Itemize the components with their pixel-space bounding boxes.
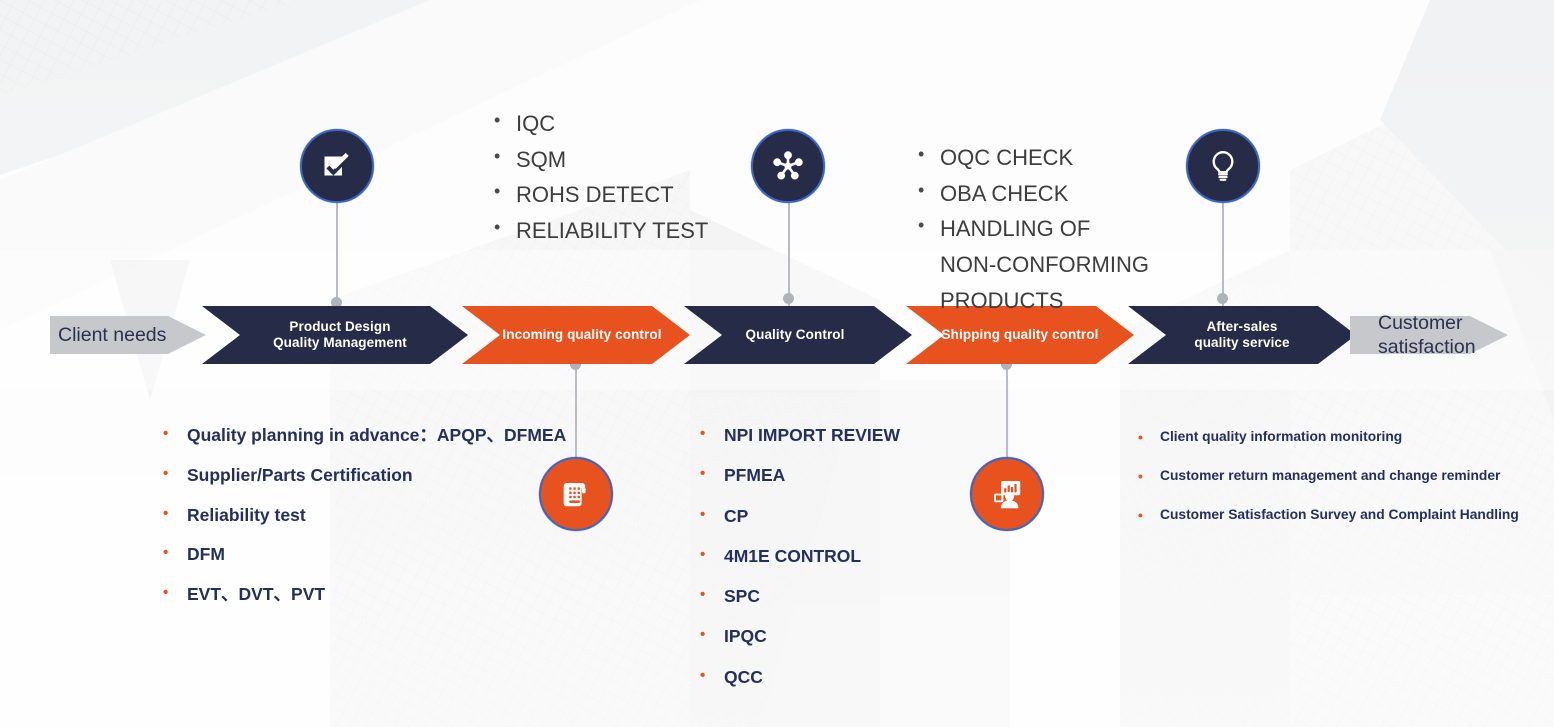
list-shipping-quality-control: • OQC CHECK • OBA CHECK • HANDLING OF NO… (918, 140, 1188, 318)
list-item-label: DFM (187, 543, 593, 566)
bullet-glyph: • (163, 424, 187, 444)
bullet-glyph: • (163, 504, 187, 524)
list-incoming-quality-control: • IQC • SQM • ROHS DETECT • RELIABILITY … (494, 106, 744, 249)
node-product-design[interactable] (300, 129, 374, 203)
connector-stem-quality-control (788, 200, 790, 308)
list-item-label: Quality planning in advance：APQP、DFMEA (187, 424, 593, 447)
list-item: • NPI IMPORT REVIEW (700, 424, 930, 447)
bullet-glyph: • (1138, 467, 1160, 485)
list-item: • OQC CHECK (918, 140, 1188, 176)
list-item-label: EVT、DVT、PVT (187, 583, 593, 606)
list-item-label: OQC CHECK (940, 140, 1188, 176)
list-item: • SPC (700, 585, 930, 608)
list-item: • Client quality information monitoring (1138, 428, 1548, 446)
list-item-label: CP (724, 505, 930, 528)
bullet-glyph: • (494, 213, 516, 242)
bullet-glyph: • (700, 666, 724, 686)
list-product-design: • Quality planning in advance：APQP、DFMEA… (163, 424, 593, 623)
list-item: • CP (700, 505, 930, 528)
node-after-sales[interactable] (1186, 129, 1260, 203)
bullet-glyph: • (700, 545, 724, 565)
list-item: • QCC (700, 666, 930, 689)
list-item: • Supplier/Parts Certification (163, 464, 593, 487)
bullet-glyph: • (700, 464, 724, 484)
list-item: • PFMEA (700, 464, 930, 487)
list-item-label: SQM (516, 142, 744, 178)
presentation-person-icon (990, 477, 1024, 511)
list-item: • EVT、DVT、PVT (163, 583, 593, 606)
list-item: • OBA CHECK (918, 176, 1188, 212)
list-item: • Quality planning in advance：APQP、DFMEA (163, 424, 593, 447)
flow-start-cap-label: Client needs (58, 323, 208, 347)
list-item-label: IQC (516, 106, 744, 142)
chevron-label-shipping-quality-control[interactable]: Shipping quality control (934, 327, 1106, 343)
lightbulb-icon (1206, 149, 1240, 183)
list-item: • 4M1E CONTROL (700, 545, 930, 568)
list-item-label: Supplier/Parts Certification (187, 464, 593, 487)
list-item: • ROHS DETECT (494, 177, 744, 213)
list-item: • Customer Satisfaction Survey and Compl… (1138, 506, 1548, 524)
list-item-label: OBA CHECK (940, 176, 1188, 212)
list-item: • RELIABILITY TEST (494, 213, 744, 249)
chevron-label-quality-control[interactable]: Quality Control (714, 327, 876, 343)
list-item-label: 4M1E CONTROL (724, 545, 930, 568)
list-item-label: Client quality information monitoring (1160, 428, 1548, 446)
list-item-label: ROHS DETECT (516, 177, 744, 213)
bullet-glyph: • (494, 177, 516, 206)
node-shipping-quality-control[interactable] (970, 457, 1044, 531)
bullet-glyph: • (1138, 428, 1160, 446)
connector-dot-after-sales (1217, 293, 1228, 304)
molecule-icon (771, 149, 805, 183)
list-item: • HANDLING OF NON-CONFORMING PRODUCTS (918, 211, 1188, 318)
connector-stem-after-sales (1222, 200, 1224, 308)
list-item-label: PFMEA (724, 464, 930, 487)
bullet-glyph: • (918, 211, 940, 240)
list-item: • Reliability test (163, 504, 593, 527)
bullet-glyph: • (918, 140, 940, 169)
chevron-label-after-sales[interactable]: After-sales quality service (1156, 319, 1328, 351)
bullet-glyph: • (163, 543, 187, 563)
list-item: • IQC (494, 106, 744, 142)
list-item-label: Customer Satisfaction Survey and Complai… (1160, 506, 1548, 524)
bullet-glyph: • (163, 583, 187, 603)
connector-dot-quality-control (783, 293, 794, 304)
list-item-label: HANDLING OF NON-CONFORMING PRODUCTS (940, 211, 1188, 318)
list-item: • IPQC (700, 625, 930, 648)
process-flow-band: Client needs Product Design Quality Mana… (0, 306, 1554, 364)
bullet-glyph: • (700, 585, 724, 605)
flow-end-cap-label: Customer satisfaction (1378, 311, 1554, 359)
list-item-label: Reliability test (187, 504, 593, 527)
chevron-label-product-design[interactable]: Product Design Quality Management (240, 319, 440, 351)
connector-stem-product-design (336, 200, 338, 308)
node-quality-control[interactable] (751, 129, 825, 203)
list-item-label: NPI IMPORT REVIEW (724, 424, 930, 447)
bullet-glyph: • (918, 176, 940, 205)
list-item-label: IPQC (724, 625, 930, 648)
diagram-canvas: Client needs Product Design Quality Mana… (0, 0, 1554, 727)
bullet-glyph: • (700, 625, 724, 645)
bullet-glyph: • (1138, 506, 1160, 524)
bullet-glyph: • (700, 505, 724, 525)
list-item-label: SPC (724, 585, 930, 608)
bullet-glyph: • (700, 424, 724, 444)
list-item-label: QCC (724, 666, 930, 689)
list-quality-control: • NPI IMPORT REVIEW • PFMEA • CP • 4M1E … (700, 424, 930, 706)
list-item-label: Customer return management and change re… (1160, 467, 1548, 485)
list-item: • SQM (494, 142, 744, 178)
bullet-glyph: • (494, 106, 516, 135)
connector-stem-shipping (1006, 362, 1008, 462)
check-square-icon (320, 149, 354, 183)
list-item-label: RELIABILITY TEST (516, 213, 744, 249)
chevron-label-incoming-quality-control[interactable]: Incoming quality control (492, 327, 672, 343)
list-item: • Customer return management and change … (1138, 467, 1548, 485)
list-item: • DFM (163, 543, 593, 566)
list-after-sales: • Client quality information monitoring … (1138, 428, 1548, 546)
bullet-glyph: • (494, 142, 516, 171)
bullet-glyph: • (163, 464, 187, 484)
